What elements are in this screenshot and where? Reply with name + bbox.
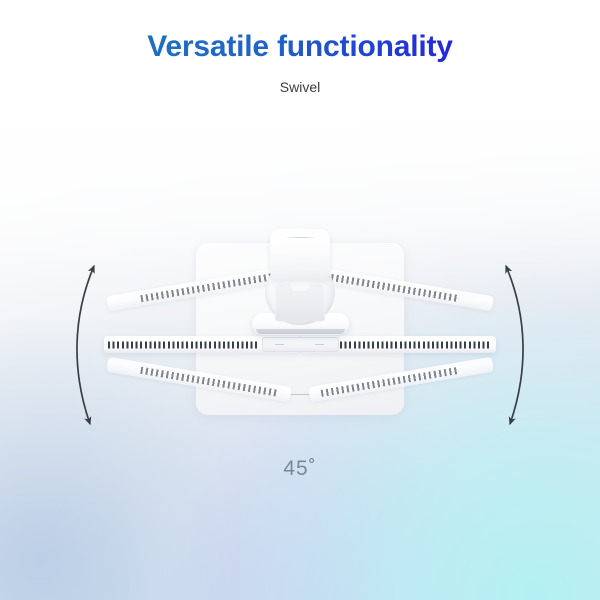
- vent-grille-left: [108, 341, 260, 348]
- product-feature-slide: Versatile functionality Swivel: [0, 0, 600, 600]
- vent-grille-right: [340, 341, 492, 348]
- swivel-head-seam: [286, 237, 316, 238]
- control-marking-left: [275, 344, 284, 345]
- swivel-angle-label: 45˚: [0, 457, 600, 481]
- base-plate-rim: [256, 329, 345, 334]
- center-control-panel: [262, 337, 339, 352]
- product-illustration: [0, 0, 600, 600]
- control-marking-right: [315, 344, 324, 345]
